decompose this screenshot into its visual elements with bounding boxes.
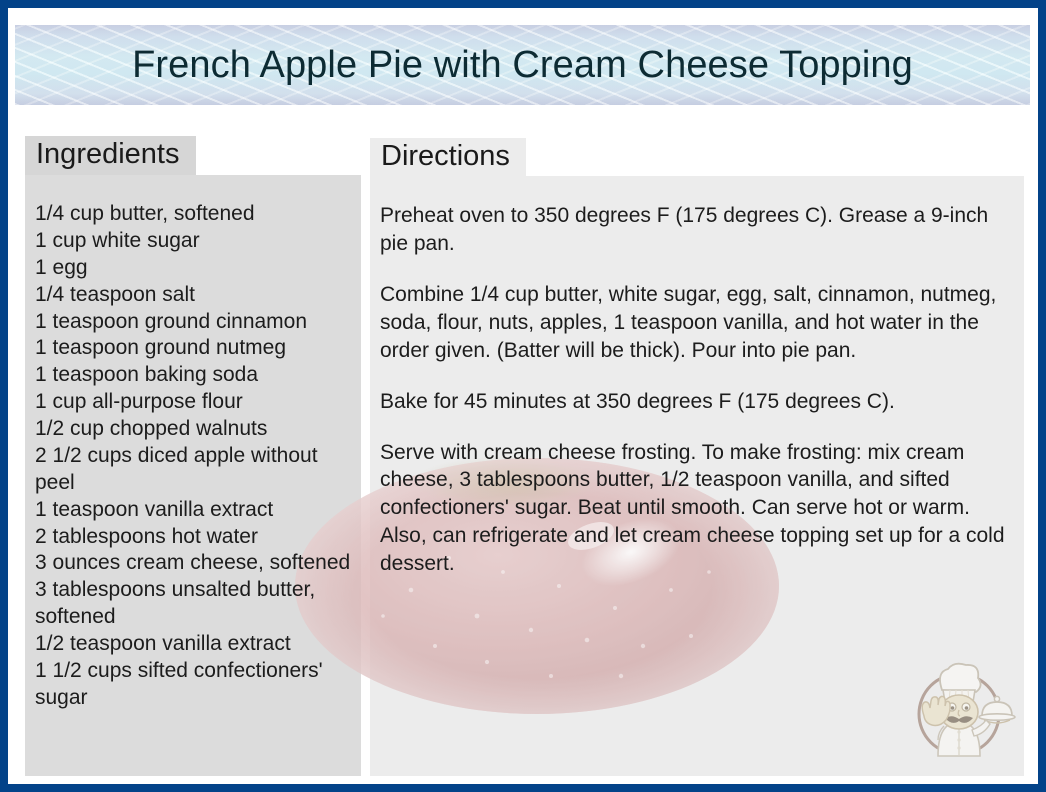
ingredient-item: 1 cup white sugar [35,228,353,255]
recipe-card-frame: French Apple Pie with Cream Cheese Toppi… [0,0,1046,792]
recipe-card-body: French Apple Pie with Cream Cheese Toppi… [8,8,1038,784]
ingredient-item: 1/4 cup butter, softened [35,201,353,228]
direction-step: Preheat oven to 350 degrees F (175 degre… [380,202,1012,258]
directions-section-tab: Directions [370,138,526,177]
ingredient-item: 1 cup all-purpose flour [35,389,353,416]
ingredient-item: 2 1/2 cups diced apple without peel [35,443,353,497]
ingredient-item: 1 egg [35,255,353,282]
ingredient-item: 1 1/2 cups sifted confectioners' sugar [35,658,353,712]
direction-step: Serve with cream cheese frosting. To mak… [380,439,1012,579]
ingredient-item: 3 tablespoons unsalted butter, softened [35,577,353,631]
direction-step: Bake for 45 minutes at 350 degrees F (17… [380,388,1012,416]
ingredient-item: 1 teaspoon vanilla extract [35,497,353,524]
title-banner: French Apple Pie with Cream Cheese Toppi… [15,25,1030,105]
page-title: French Apple Pie with Cream Cheese Toppi… [15,25,1030,105]
ingredient-item: 1 teaspoon baking soda [35,362,353,389]
ingredient-item: 1/2 teaspoon vanilla extract [35,631,353,658]
ingredient-item: 1 teaspoon ground nutmeg [35,335,353,362]
ingredient-item: 3 ounces cream cheese, softened [35,550,353,577]
directions-text: Preheat oven to 350 degrees F (175 degre… [370,176,1024,578]
ingredient-item: 1 teaspoon ground cinnamon [35,309,353,336]
ingredients-section-tab: Ingredients [25,136,196,175]
direction-step: Combine 1/4 cup butter, white sugar, egg… [380,281,1012,365]
ingredient-item: 1/2 cup chopped walnuts [35,416,353,443]
ingredients-panel: 1/4 cup butter, softened1 cup white suga… [25,175,361,776]
ingredient-item: 2 tablespoons hot water [35,524,353,551]
directions-panel: Preheat oven to 350 degrees F (175 degre… [370,176,1024,776]
ingredient-item: 1/4 teaspoon salt [35,282,353,309]
ingredients-list: 1/4 cup butter, softened1 cup white suga… [25,175,361,712]
